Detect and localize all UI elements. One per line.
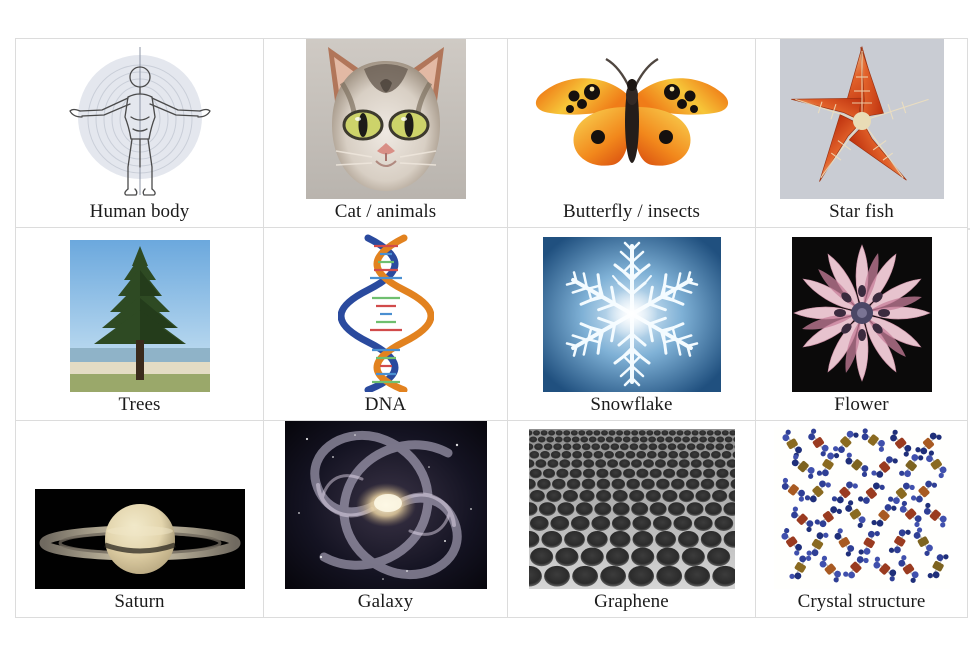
cell-cat-animals[interactable]: Cat / animals — [264, 39, 508, 228]
caption-star-fish: Star fish — [829, 199, 894, 227]
saturn-planet-photo — [35, 489, 245, 589]
cell-galaxy[interactable]: Galaxy — [264, 421, 508, 618]
table-row: Trees — [16, 228, 968, 421]
cell-snowflake[interactable]: Snowflake — [508, 228, 756, 421]
cat-face-photo — [306, 39, 466, 199]
symmetry-examples-table: Human body — [15, 38, 968, 618]
table-row: Saturn — [16, 421, 968, 618]
graphene-lattice-micrograph — [529, 429, 735, 589]
spiral-galaxy-photo — [285, 421, 487, 589]
pink-flower-photo — [792, 237, 932, 392]
caption-crystal-structure: Crystal structure — [798, 589, 926, 617]
snowflake-crystal-photo — [543, 237, 721, 392]
orange-butterfly-photo — [530, 49, 734, 199]
caption-cat-animals: Cat / animals — [335, 199, 437, 227]
caption-snowflake: Snowflake — [590, 392, 672, 420]
caption-graphene: Graphene — [594, 589, 669, 617]
dna-double-helix-illustration — [338, 234, 434, 392]
caption-galaxy: Galaxy — [358, 589, 413, 617]
caption-human-body: Human body — [90, 199, 190, 227]
figure-root: Human body — [0, 0, 980, 653]
cell-star-fish[interactable]: Star fish — [756, 39, 968, 228]
caption-flower: Flower — [834, 392, 888, 420]
cell-trees[interactable]: Trees — [16, 228, 264, 421]
pine-tree-photo — [70, 240, 210, 392]
vitruvian-human-figure-image — [58, 43, 222, 199]
cell-butterfly-insects[interactable]: Butterfly / insects — [508, 39, 756, 228]
cell-flower[interactable]: Flower — [756, 228, 968, 421]
cell-saturn[interactable]: Saturn — [16, 421, 264, 618]
cell-graphene[interactable]: Graphene — [508, 421, 756, 618]
caption-trees: Trees — [118, 392, 160, 420]
caption-butterfly-insects: Butterfly / insects — [563, 199, 700, 227]
cell-crystal-structure[interactable]: Crystal structure — [756, 421, 968, 618]
starfish-photo — [780, 39, 944, 199]
cell-dna[interactable]: DNA — [264, 228, 508, 421]
caption-saturn: Saturn — [114, 589, 164, 617]
molecular-crystal-diagram — [774, 427, 950, 589]
caption-dna: DNA — [365, 392, 406, 420]
table-row: Human body — [16, 39, 968, 228]
cell-human-body[interactable]: Human body — [16, 39, 264, 228]
